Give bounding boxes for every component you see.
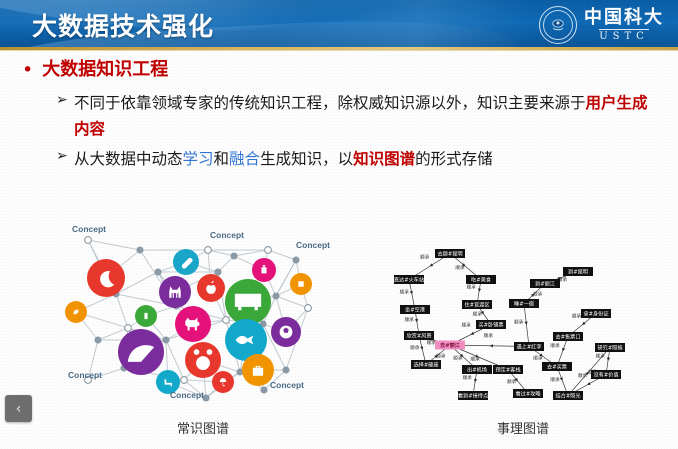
moon-icon [87,259,125,297]
event-node: 去趟#昆明 [435,249,465,258]
event-node-label: 住#官渡区 [464,301,489,309]
commonsense-graph-caption: 常识图谱 [58,418,348,437]
bullet-2-seg-6: 的形式存储 [415,150,493,168]
event-node-label: 选择#硬座 [413,361,438,369]
event-node: 坐#空港 [400,305,430,314]
bullet-2-seg-4: 生成知识，以 [260,150,353,168]
event-node: 到#丽江 [530,279,560,288]
pill-icon [173,249,199,275]
slide-root: 大数据技术强化 中国科大 USTC • 大数据知识工程 ➢ [0,0,678,449]
edge-label: 顺承 [427,339,437,346]
event-node-label: 欣赏#风景 [406,332,431,340]
edge-label: 顺承 [453,355,463,362]
chevron-left-icon: ‹ [16,401,22,417]
event-graph-svg: 顺承顺承顺承顺承顺承顺承顺承顺承顺承顺承顺承顺承顺承顺承顺承顺承顺承顺承顺承顺承… [378,243,668,415]
edge-label: 顺承 [400,288,410,295]
event-node-label: 结合#照光 [555,392,580,400]
event-node: 买#卧铺票 [476,320,506,329]
event-node: 没有#价值 [591,370,621,379]
edge-arrow-icon [489,344,492,347]
edge-arrow-icon [560,377,564,381]
bullet-text-2: 从大数据中动态学习和融合生成知识，以知识图谱的形式存储 [74,146,656,172]
event-node: 到#昆明 [563,267,593,276]
edge-arrow-icon [525,321,529,325]
event-node-label: 看过#攻略 [515,390,541,398]
graph-hub-node [215,269,221,275]
battery-icon [135,305,157,327]
graph-hub-node [283,367,289,373]
graph-hub-node [265,247,272,254]
event-node: 吃#美食 [466,275,496,284]
event-node: 欣赏#风景 [404,331,434,340]
edge-label: 顺承 [455,264,465,271]
graph-hub-node [231,253,237,259]
soccer-icon [271,317,301,347]
commonsense-graph-svg: ConceptConceptConceptConceptConceptConce… [58,220,348,415]
graph-hub-node [205,247,212,254]
event-node-label: 到#丽江 [535,281,555,288]
bullet-2-seg-0: 从大数据中动态 [74,150,183,168]
graph-hub-node [125,325,132,332]
edge-label: 顺承 [467,283,477,290]
event-node-label: 坐#空港 [405,306,426,314]
concept-label: Concept [170,390,204,400]
bullet-2-seg-3: 融合 [229,150,260,168]
edge-label: 顺承 [462,321,472,328]
event-node-label: 买#卧铺票 [478,321,503,329]
edge-label: 顺承 [572,312,582,319]
event-node: 结合#照光 [553,391,583,400]
graph-hub-node [223,317,230,324]
bullet-item-2: ➢ 从大数据中动态学习和融合生成知识，以知识图谱的形式存储 [56,146,656,172]
edge-label: 顺承 [473,311,483,318]
edge-label: 顺承 [484,332,494,339]
event-node: 遇上#红孛 [514,342,544,351]
event-node-label: 直达#火车站 [394,276,424,284]
graph-hub-node [137,247,143,253]
panda-icon [185,342,221,378]
event-node: 研究#照搞 [595,343,625,352]
event-node: 出#机场 [462,365,492,374]
event-node-label: 遇上#红孛 [516,343,541,351]
event-node-label: 吃#美食 [471,276,492,284]
graph-hub-node [85,237,92,244]
event-node: 看到#接待点 [458,391,488,400]
event-node-label: 出#机场 [467,366,487,374]
concept-label: Concept [68,370,102,380]
graph-hub-node [261,387,267,393]
logo-chinese-name: 中国科大 [584,9,664,27]
event-node-label: 睡#一宿 [514,300,534,308]
edge-label: 顺承 [463,374,473,381]
concept-label: Concept [210,230,244,240]
edge-label: 顺承 [420,254,430,261]
event-node-label: 预定#客栈 [495,366,520,374]
bullet-2-seg-2: 和 [214,150,230,168]
bullet-arrow-icon-1: ➢ [56,90,68,110]
event-node-label: 去#售票口 [555,333,580,341]
concept-label: Concept [72,224,106,234]
event-node-label: 没有#价值 [593,371,618,379]
section-heading: • 大数据知识工程 [22,60,168,80]
umbrella-icon [212,371,234,393]
window-icon [290,273,312,295]
logo-english-name: USTC [599,29,649,42]
concept-label: Concept [270,380,304,390]
graph-hub-node [181,377,188,384]
bullet-arrow-icon-2: ➢ [56,146,68,166]
graph-hub-node [293,257,299,263]
event-node: 直达#火车站 [394,275,424,284]
event-node: 去#售票口 [553,332,583,341]
ustc-logo: 中国科大 USTC [539,5,664,45]
watermelon-icon [118,329,164,375]
edge-label: 顺承 [410,344,420,351]
edge-arrow-icon [470,332,474,336]
event-node: 选择#硬座 [411,360,441,369]
bus-icon [225,279,271,325]
event-center-node-label: 去#丽江 [440,341,461,349]
apple-icon [197,274,225,302]
event-graph-figure: 顺承顺承顺承顺承顺承顺承顺承顺承顺承顺承顺承顺承顺承顺承顺承顺承顺承顺承顺承顺承… [378,243,668,415]
event-node-label: 看到#接待点 [458,392,488,400]
header-gold-rule-secondary [0,50,678,51]
bullet-text-1: 不同于依靠领域专家的传统知识工程，除权威知识源以外，知识主要来源于用户生成内容 [74,90,656,142]
commonsense-graph-figure: ConceptConceptConceptConceptConceptConce… [58,220,348,415]
bullet-item-1: ➢ 不同于依靠领域专家的传统知识工程，除权威知识源以外，知识主要来源于用户生成内… [56,90,656,142]
edge-label: 顺承 [533,291,543,298]
bullet-2-seg-1: 学习 [183,150,214,168]
event-node: 拿#身份证 [581,309,611,318]
event-center-node: 去#丽江 [435,341,465,350]
edge-label: 顺承 [550,376,560,383]
event-node-label: 去#买票 [547,363,567,371]
edge-arrow-icon [561,348,565,352]
previous-slide-button[interactable]: ‹ [5,395,32,422]
edge-arrow-icon [586,382,591,386]
cat-icon [159,276,191,308]
edge-label: 顺承 [514,318,524,325]
graph-hub-node [163,337,169,343]
event-node-label: 拿#身份证 [583,310,608,318]
graph-hub-node [95,337,101,343]
event-graph-caption: 事理图谱 [378,418,668,437]
event-node: 住#官渡区 [462,300,492,309]
graph-hub-node [273,293,279,299]
graph-hub-node [305,305,312,312]
heading-text: 大数据知识工程 [42,60,168,80]
bag-icon [252,258,276,282]
graph-hub-node [155,269,161,275]
event-node: 睡#一宿 [509,299,539,308]
event-node: 去#买票 [542,362,572,371]
event-node-label: 去趟#昆明 [437,250,462,258]
ustc-seal-icon [539,6,577,44]
edge-label: 顺承 [533,354,543,361]
edge-label: 顺承 [507,378,517,385]
leaf-icon [65,301,87,323]
event-node: 预定#客栈 [493,365,523,374]
edge-label: 顺承 [550,342,560,349]
event-node-label: 研究#照搞 [597,344,622,352]
edge-label: 顺承 [470,356,480,363]
event-node-label: 到#昆明 [568,269,588,276]
bullet-2-seg-5: 知识图谱 [353,150,415,168]
dog-icon [175,306,211,342]
edge-label: 顺承 [405,316,415,323]
page-title: 大数据技术强化 [32,7,214,43]
concept-label: Concept [296,240,330,250]
slide-header: 大数据技术强化 中国科大 USTC [0,0,678,50]
bullet-1-seg-0: 不同于依靠领域专家的传统知识工程，除权威知识源以外，知识主要来源于 [74,94,586,112]
heading-bullet-icon: • [22,60,33,80]
edge-label: 顺承 [436,352,446,359]
edge-arrow-icon [429,263,434,268]
event-node: 看过#攻略 [513,389,543,398]
